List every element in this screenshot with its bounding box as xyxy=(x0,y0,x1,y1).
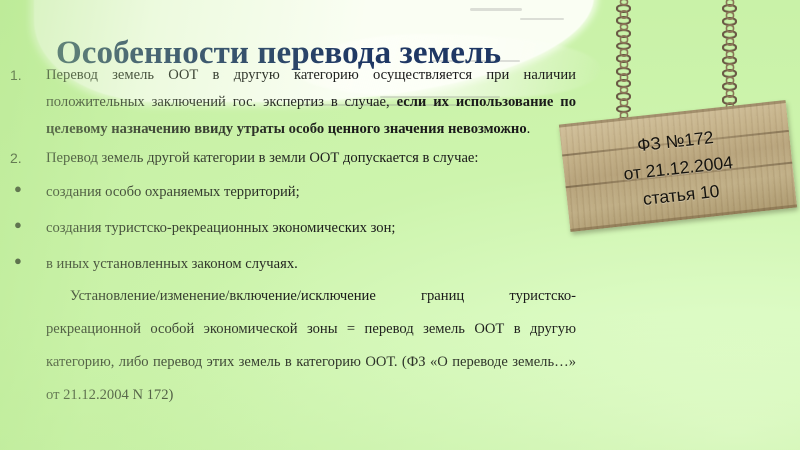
list-item-1-text-tail: . xyxy=(527,121,531,137)
list-item-1: 1.Перевод земель ООТ в другую категорию … xyxy=(0,62,576,143)
list-item-2: 2.Перевод земель другой категории в земл… xyxy=(0,145,576,172)
brush-speck xyxy=(470,8,522,11)
closing-paragraph: Установление/изменение/включение/исключе… xyxy=(0,280,576,412)
sign-text: ФЗ №172 от 21.12.2004 статья 10 xyxy=(561,116,796,221)
bullet-item-2: ●создания туристско-рекреационных эконом… xyxy=(0,212,576,244)
presentation-slide: Особенности перевода земель 1.Перевод зе… xyxy=(0,0,800,450)
slide-body: 1.Перевод земель ООТ в другую категорию … xyxy=(0,62,576,412)
bullet-marker: ● xyxy=(14,248,42,274)
bullet-marker: ● xyxy=(14,212,42,238)
bullet-item-3: ●в иных установленных законом случаях. xyxy=(0,248,576,280)
bullet-item-1-text: создания особо охраняемых территорий; xyxy=(46,184,300,200)
wooden-board: ФЗ №172 от 21.12.2004 статья 10 xyxy=(559,100,797,232)
list-marker-2: 2. xyxy=(10,145,38,172)
bullet-item-2-text: создания туристско-рекреационных экономи… xyxy=(46,220,395,236)
chain-left-icon xyxy=(618,0,629,126)
bullet-marker: ● xyxy=(14,176,42,202)
hanging-wooden-sign: ФЗ №172 от 21.12.2004 статья 10 xyxy=(556,0,800,246)
bullet-item-3-text: в иных установленных законом случаях. xyxy=(46,256,298,272)
bullet-item-1: ●создания особо охраняемых территорий; xyxy=(0,176,576,208)
list-item-2-text: Перевод земель другой категории в земли … xyxy=(46,150,478,166)
list-marker-1: 1. xyxy=(10,62,38,89)
